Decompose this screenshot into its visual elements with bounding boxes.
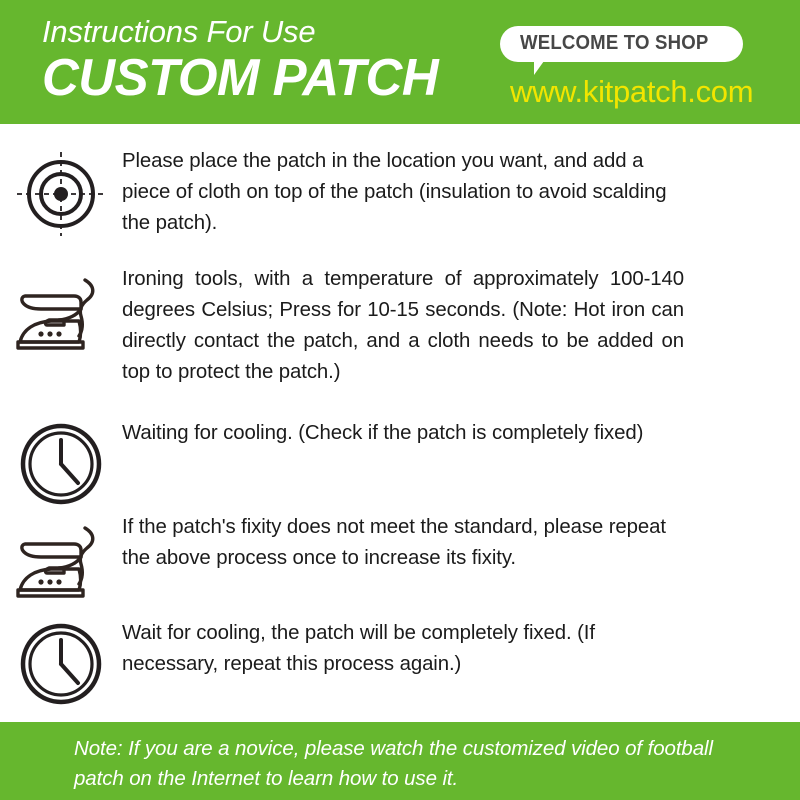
website-url: www.kitpatch.com bbox=[500, 74, 790, 110]
speech-bubble-tail-icon bbox=[534, 61, 553, 75]
step-text: Wait for cooling, the patch will be comp… bbox=[122, 618, 684, 680]
instruction-step: Please place the patch in the location y… bbox=[0, 146, 800, 240]
instruction-step: Waiting for cooling. (Check if the patch… bbox=[0, 418, 800, 508]
instruction-step: Ironing tools, with a temperature of app… bbox=[0, 264, 800, 388]
page-title: CUSTOM PATCH bbox=[42, 51, 463, 105]
header-title-group: Instructions For Use CUSTOM PATCH bbox=[42, 16, 472, 105]
welcome-badge: WELCOME TO SHOP bbox=[500, 26, 743, 62]
clock-icon bbox=[17, 620, 105, 708]
step-icon-wrapper bbox=[0, 264, 122, 362]
step-icon-wrapper bbox=[0, 418, 122, 508]
iron-icon bbox=[11, 514, 111, 610]
clock-icon bbox=[17, 420, 105, 508]
step-icon-wrapper bbox=[0, 618, 122, 708]
header-banner: Instructions For Use CUSTOM PATCH WELCOM… bbox=[0, 0, 800, 124]
instruction-step: Wait for cooling, the patch will be comp… bbox=[0, 618, 800, 708]
step-text: Waiting for cooling. (Check if the patch… bbox=[122, 418, 684, 449]
footer-banner: Note: If you are a novice, please watch … bbox=[0, 722, 800, 800]
step-icon-wrapper bbox=[0, 146, 122, 240]
step-text: Ironing tools, with a temperature of app… bbox=[122, 264, 684, 388]
header-brand-group: WELCOME TO SHOP www.kitpatch.com bbox=[500, 26, 790, 110]
welcome-badge-label: WELCOME TO SHOP bbox=[520, 32, 708, 55]
instruction-step: If the patch's fixity does not meet the … bbox=[0, 512, 800, 610]
target-icon bbox=[15, 148, 107, 240]
instruction-steps-list: Please place the patch in the location y… bbox=[0, 124, 800, 722]
footer-note-text: Note: If you are a novice, please watch … bbox=[74, 734, 742, 794]
step-text: If the patch's fixity does not meet the … bbox=[122, 512, 684, 574]
header-subtitle: Instructions For Use bbox=[42, 16, 472, 49]
step-text: Please place the patch in the location y… bbox=[122, 146, 684, 239]
step-icon-wrapper bbox=[0, 512, 122, 610]
iron-icon bbox=[11, 266, 111, 362]
